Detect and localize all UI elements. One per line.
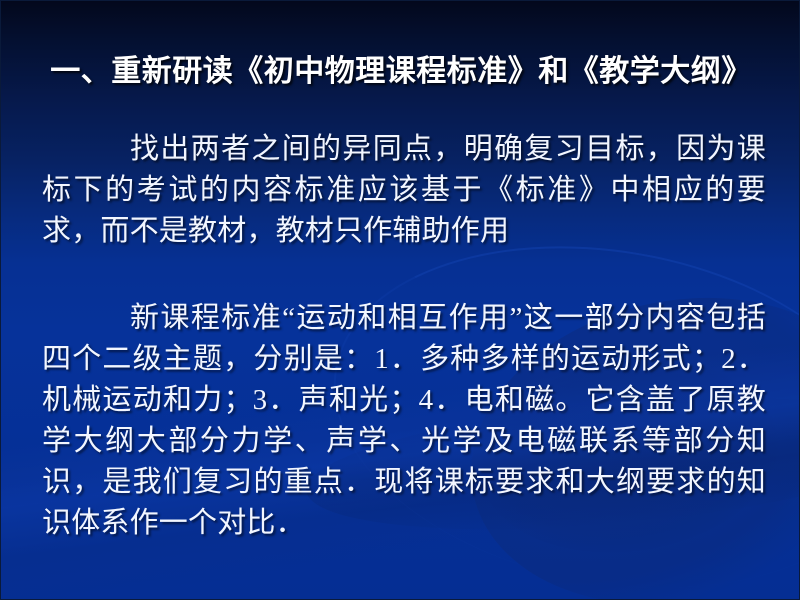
- slide-body: 找出两者之间的异同点，明确复习目标，因为课标下的考试的内容标准应该基于《标准》中…: [42, 129, 766, 544]
- body-paragraph-1: 找出两者之间的异同点，明确复习目标，因为课标下的考试的内容标准应该基于《标准》中…: [42, 129, 766, 252]
- presentation-slide: 一、重新研读《初中物理课程标准》和《教学大纲》 找出两者之间的异同点，明确复习目…: [0, 0, 800, 600]
- slide-title: 一、重新研读《初中物理课程标准》和《教学大纲》: [1, 52, 800, 92]
- body-paragraph-2: 新课程标准“运动和相互作用”这一部分内容包括四个二级主题，分别是：1．多种多样的…: [42, 298, 766, 544]
- slide-content: 一、重新研读《初中物理课程标准》和《教学大纲》 找出两者之间的异同点，明确复习目…: [1, 1, 799, 599]
